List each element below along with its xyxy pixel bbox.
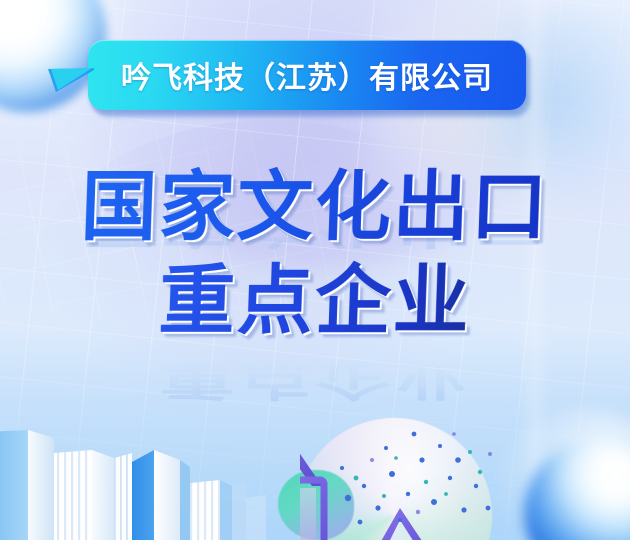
company-name-text: 吟飞科技（江苏）有限公司 <box>121 53 493 97</box>
particle-dots-icon <box>330 390 630 540</box>
headline-line1: 国家文化出口 <box>0 162 630 254</box>
headline-line1-text: 国家文化出口 <box>79 162 550 254</box>
headline-line2-text: 重点企业 <box>157 256 472 348</box>
company-banner[interactable]: 吟飞科技（江苏）有限公司 <box>88 40 526 110</box>
city-skyline-icon <box>0 420 294 540</box>
banner-body[interactable]: 吟飞科技（江苏）有限公司 <box>88 40 526 110</box>
poster-canvas: 国家文化出口 重点企业 国家文化出口 重点企业 吟飞科技（江苏）有限公司 <box>0 0 630 540</box>
headline-block: 国家文化出口 重点企业 <box>0 162 630 348</box>
banner-tail-icon <box>48 68 94 90</box>
headline-line2: 重点企业 <box>0 256 630 348</box>
